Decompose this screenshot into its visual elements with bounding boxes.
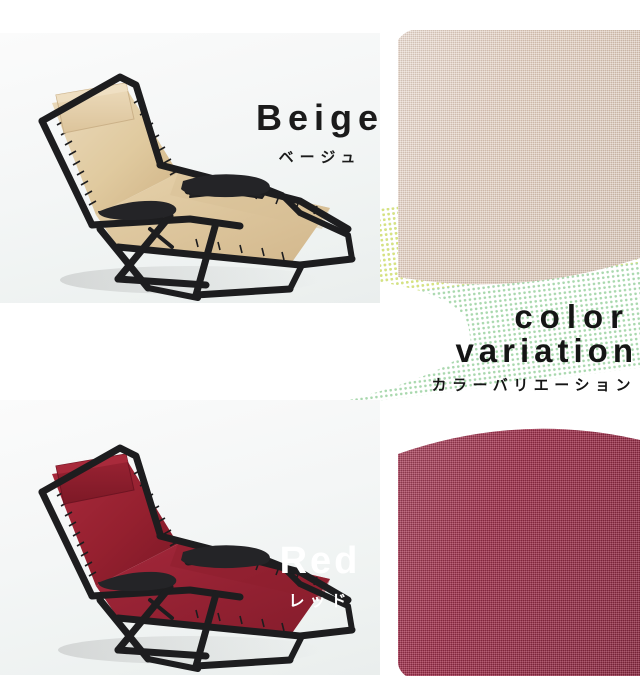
product-photo-beige: [0, 33, 380, 303]
beige-chair-illustration: [0, 33, 380, 303]
headline-subtitle-jp: カラーバリエーション: [330, 378, 640, 393]
product-photo-red: [0, 400, 380, 675]
headline-block: color variation カラーバリエーション: [330, 300, 640, 393]
headline-line-2: variation: [330, 334, 640, 369]
beige-label-jp: ベージュ: [0, 150, 640, 165]
headline-line-1: color: [330, 300, 640, 334]
red-chair-illustration: [0, 400, 380, 675]
red-label-en: Red: [0, 542, 640, 580]
color-variation-banner: Beige ベージュ Red レッド color variation カラーバリ…: [0, 0, 640, 699]
red-label-group: Red レッド: [0, 542, 640, 610]
beige-label-en: Beige: [0, 100, 640, 136]
red-label-jp: レッド: [0, 594, 640, 610]
beige-label-group: Beige ベージュ: [0, 100, 640, 165]
